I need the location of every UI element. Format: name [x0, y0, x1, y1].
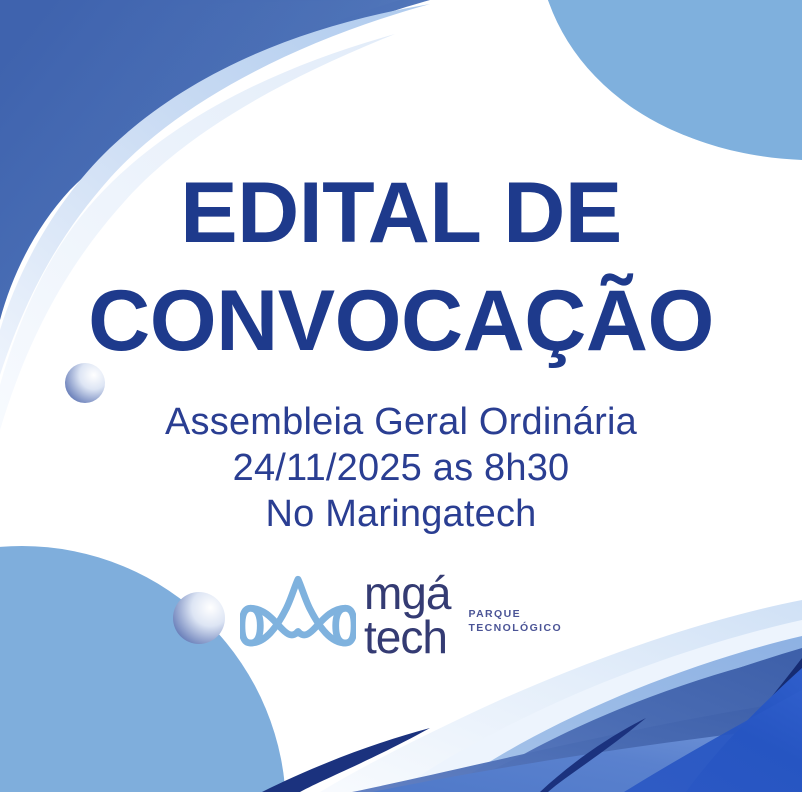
logo-tagline-line-2: TECNOLÓGICO: [468, 621, 562, 635]
mga-tech-wave-mark-icon: [240, 573, 356, 657]
poster-canvas: EDITAL DE CONVOCAÇÃO Assembleia Geral Or…: [0, 0, 802, 792]
logo-word-tech: tech: [364, 616, 450, 658]
event-detail-location: No Maringatech: [0, 491, 802, 537]
poster-content: EDITAL DE CONVOCAÇÃO Assembleia Geral Or…: [0, 0, 802, 792]
event-detail-datetime: 24/11/2025 as 8h30: [0, 445, 802, 491]
event-detail-assembly: Assembleia Geral Ordinária: [0, 399, 802, 445]
headline-line-1: EDITAL DE: [0, 171, 802, 255]
mga-tech-logo: mgá tech PARQUE TECNOLÓGICO: [0, 563, 802, 667]
logo-tagline: PARQUE TECNOLÓGICO: [468, 607, 562, 635]
logo-word-mga: mgá: [364, 572, 450, 614]
logo-tagline-line-1: PARQUE: [468, 607, 562, 621]
mga-tech-wordmark: mgá tech: [364, 572, 450, 658]
event-details: Assembleia Geral Ordinária 24/11/2025 as…: [0, 399, 802, 537]
headline-line-2: CONVOCAÇÃO: [0, 279, 802, 363]
